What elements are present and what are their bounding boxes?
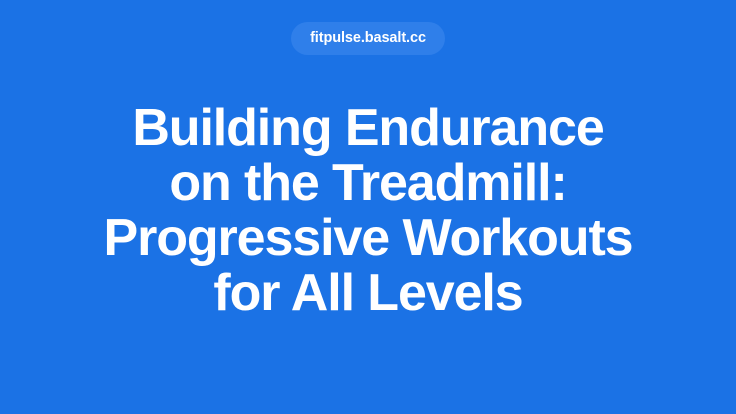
page-title: Building Endurance on the Treadmill: Pro… xyxy=(38,101,698,321)
og-share-card: fitpulse.basalt.cc Building Endurance on… xyxy=(0,0,736,414)
site-domain-label: fitpulse.basalt.cc xyxy=(310,31,426,46)
page-title-line-3: Progressive Workouts xyxy=(38,211,698,266)
site-domain-badge[interactable]: fitpulse.basalt.cc xyxy=(291,22,445,55)
page-title-line-1: Building Endurance xyxy=(38,101,698,156)
page-title-line-2: on the Treadmill: xyxy=(38,156,698,211)
page-title-line-4: for All Levels xyxy=(38,266,698,321)
